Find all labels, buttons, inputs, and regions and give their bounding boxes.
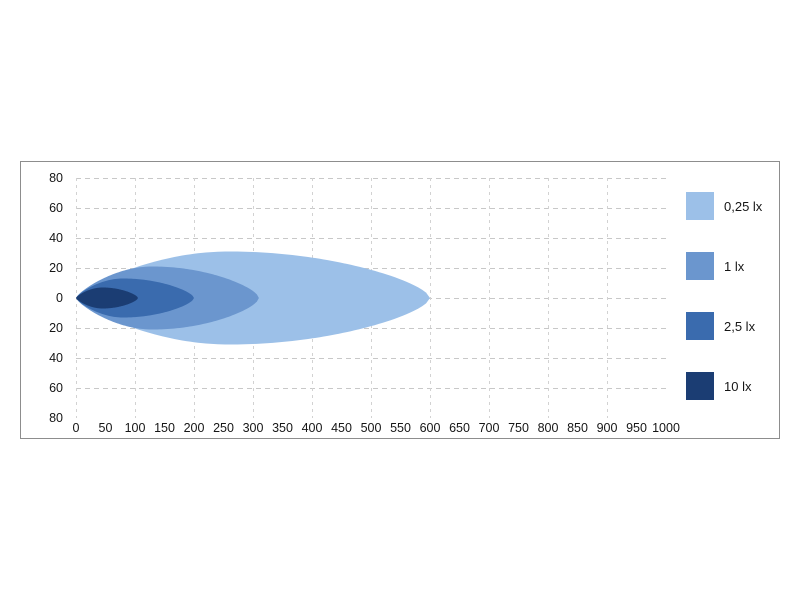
isolux-contours <box>76 178 666 418</box>
y-tick-label: 80 <box>23 172 63 185</box>
legend-label-1: 1 lx <box>724 259 744 274</box>
plot-area: 80604020020406080 0501001502002503003504… <box>76 178 666 418</box>
y-tick-label: 40 <box>23 352 63 365</box>
legend-swatch-3 <box>686 372 714 400</box>
chart-legend: 0,25 lx 1 lx 2,5 lx 10 lx <box>686 192 781 432</box>
y-tick-label: 60 <box>23 382 63 395</box>
y-tick-label: 60 <box>23 202 63 215</box>
legend-item: 10 lx <box>686 372 781 432</box>
y-tick-label: 0 <box>23 292 63 305</box>
legend-swatch-2 <box>686 312 714 340</box>
chart-frame: 80604020020406080 0501001502002503003504… <box>20 161 780 439</box>
legend-item: 2,5 lx <box>686 312 781 372</box>
y-tick-label: 40 <box>23 232 63 245</box>
legend-label-0: 0,25 lx <box>724 199 762 214</box>
legend-item: 0,25 lx <box>686 192 781 252</box>
y-tick-label: 20 <box>23 262 63 275</box>
y-tick-label: 20 <box>23 322 63 335</box>
legend-swatch-1 <box>686 252 714 280</box>
legend-swatch-0 <box>686 192 714 220</box>
legend-label-3: 10 lx <box>724 379 751 394</box>
x-tick-label: 1000 <box>646 422 686 435</box>
legend-item: 1 lx <box>686 252 781 312</box>
legend-label-2: 2,5 lx <box>724 319 755 334</box>
